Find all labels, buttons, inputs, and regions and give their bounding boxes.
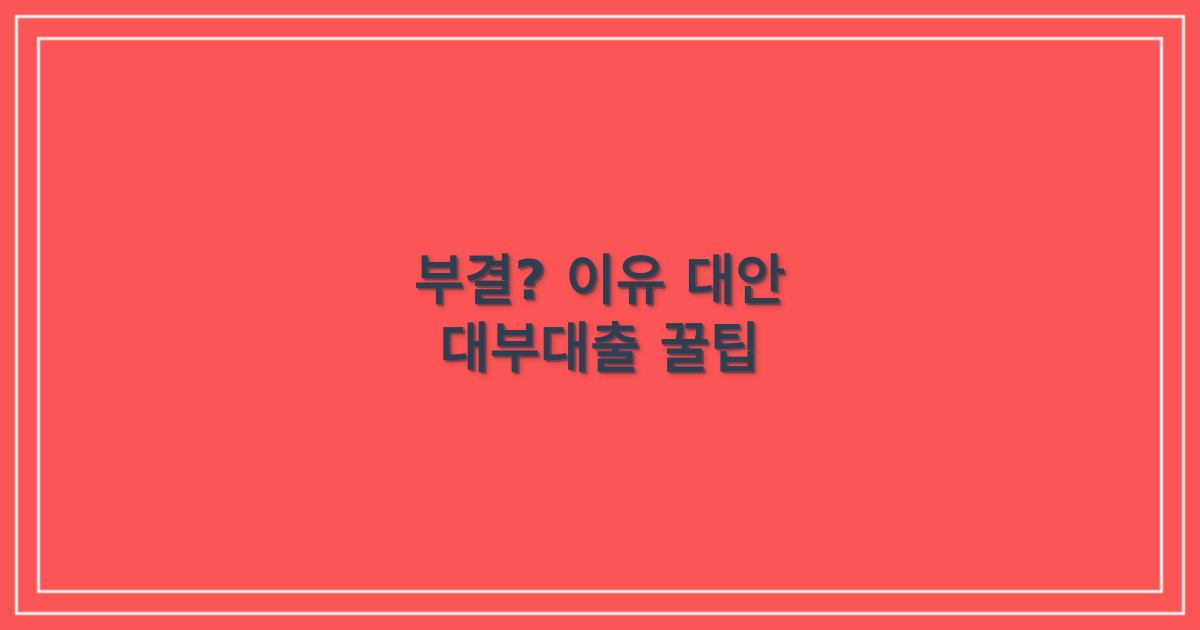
page-title: 부결? 이유 대안 대부대출 꿀팁 (414, 247, 786, 383)
title-line-1: 부결? 이유 대안 (414, 247, 786, 315)
thumbnail-canvas: 부결? 이유 대안 대부대출 꿀팁 (0, 0, 1200, 630)
headline-container: 부결? 이유 대안 대부대출 꿀팁 (0, 0, 1200, 630)
title-line-2: 대부대출 꿀팁 (414, 315, 786, 383)
